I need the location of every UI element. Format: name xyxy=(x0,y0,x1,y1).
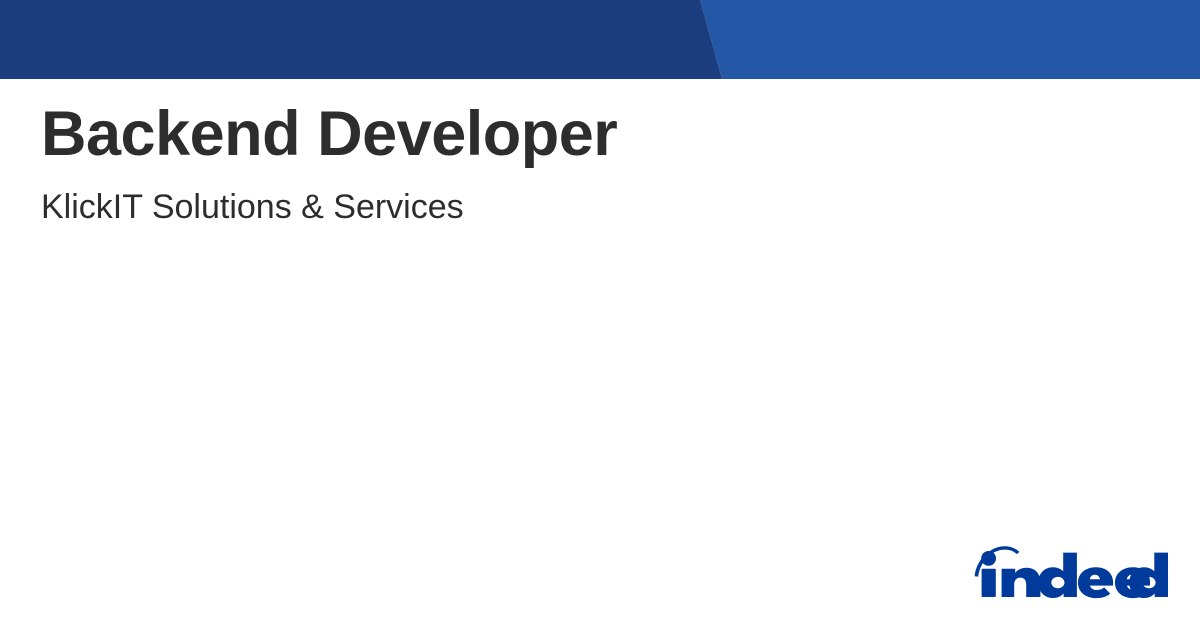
company-name: KlickIT Solutions & Services xyxy=(41,172,1141,228)
job-share-card: Backend Developer KlickIT Solutions & Se… xyxy=(0,0,1200,630)
indeed-letter-n xyxy=(1002,568,1041,597)
indeed-letter-d-2 xyxy=(1129,553,1168,598)
header-right-panel xyxy=(700,0,1200,79)
job-info-block: Backend Developer KlickIT Solutions & Se… xyxy=(41,96,1141,228)
indeed-letter-d-1 xyxy=(1038,553,1077,598)
indeed-letter-i xyxy=(982,569,996,597)
indeed-letter-e-1 xyxy=(1078,567,1113,598)
header-band xyxy=(0,0,1200,79)
header-left-panel xyxy=(0,0,722,79)
page-title: Backend Developer xyxy=(41,96,1141,172)
indeed-i-dot xyxy=(981,551,996,566)
indeed-logo xyxy=(973,543,1168,599)
